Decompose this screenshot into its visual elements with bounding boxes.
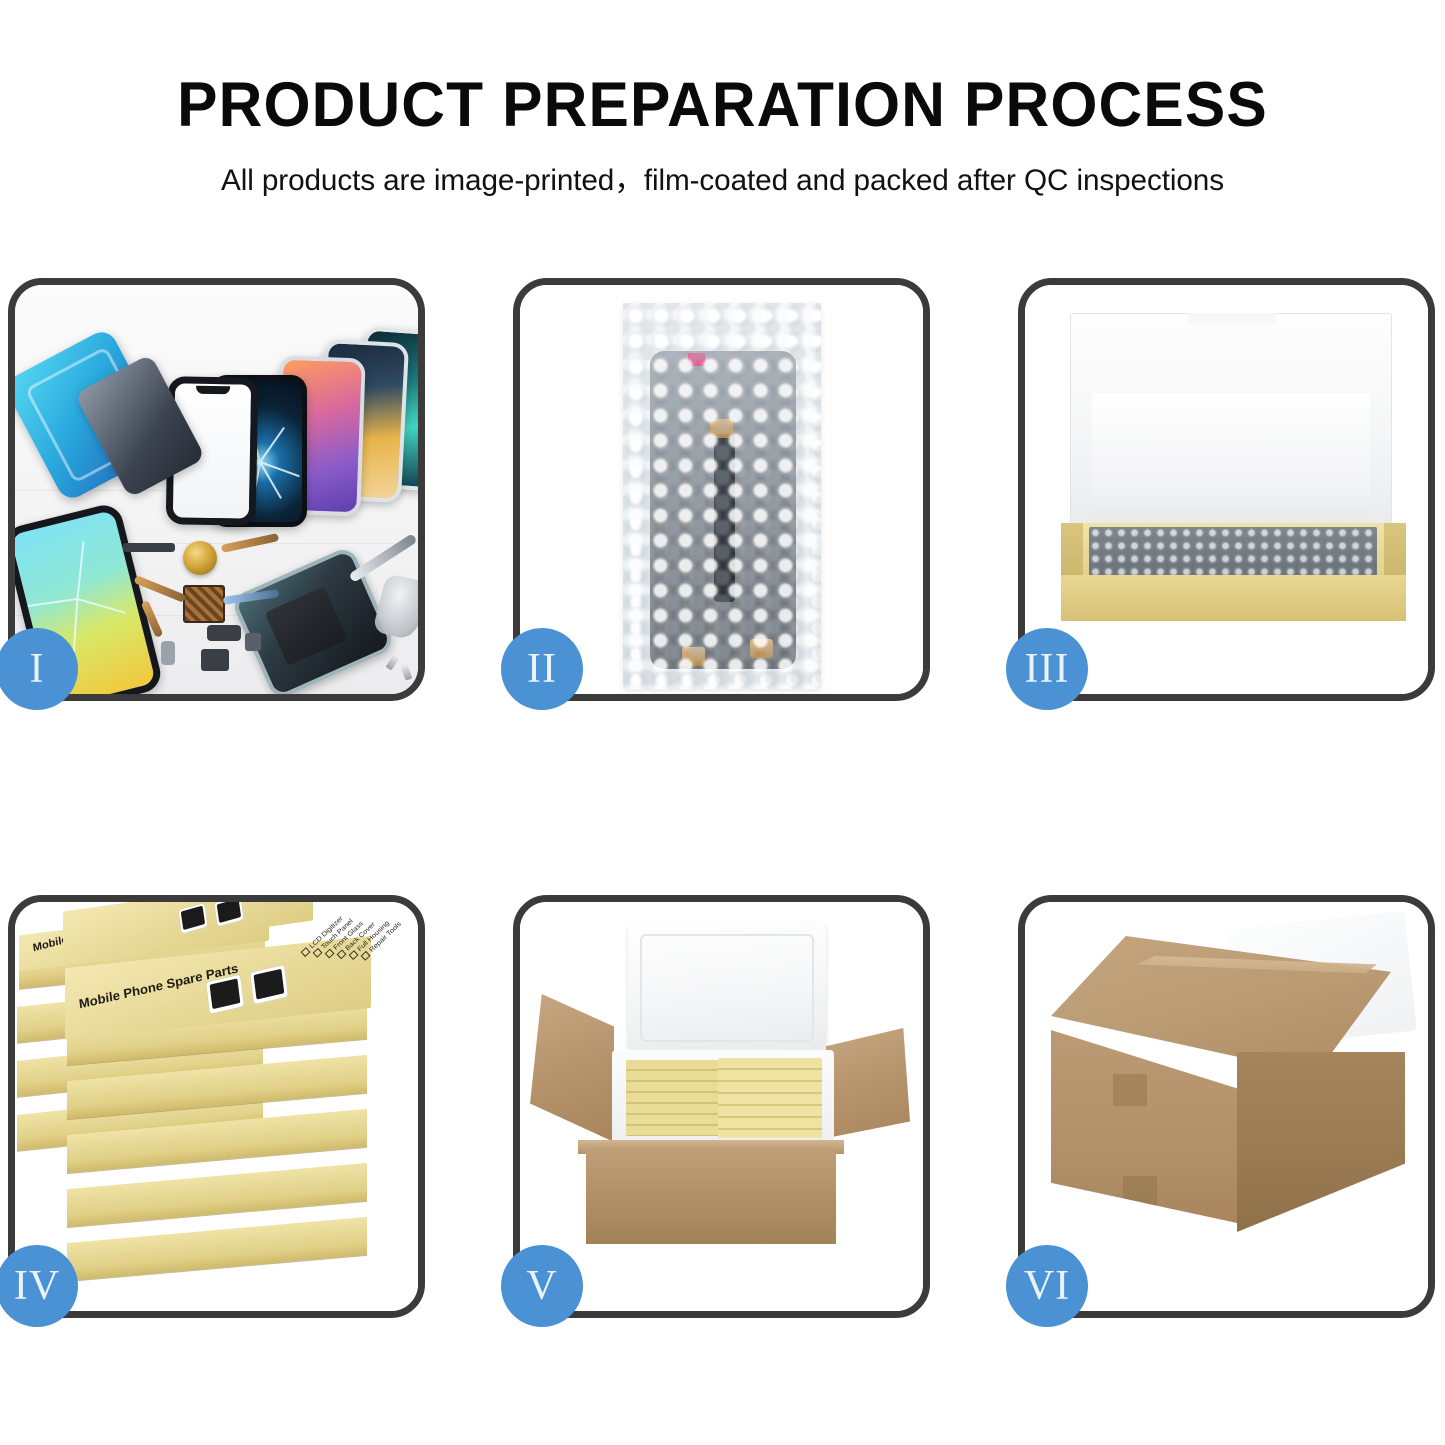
box-lid-open xyxy=(1070,313,1392,535)
bubble-wrap-bag xyxy=(623,303,821,689)
box-screen-thumbnail xyxy=(177,902,208,935)
taptic-engine-part xyxy=(201,649,229,671)
step-badge-6: VI xyxy=(1006,1245,1088,1327)
retail-box-front-2 xyxy=(67,1163,367,1227)
step-2-image xyxy=(520,285,923,694)
ic-chip-icon xyxy=(183,585,225,623)
cleaning-brush-icon xyxy=(372,573,418,642)
process-step-panel-4: Mobile Phone Spare Parts LCD Digitizer T… xyxy=(8,895,425,1318)
sealed-carton-scene xyxy=(1025,902,1428,1311)
tape-patch-upper xyxy=(1113,1074,1147,1106)
process-step-panel-2: II xyxy=(513,278,930,701)
screen-flex-cable xyxy=(714,434,735,602)
open-flat-box-scene xyxy=(1025,285,1428,694)
speaker-coil-icon xyxy=(183,541,217,575)
foam-cooler-lid xyxy=(628,922,826,1054)
connector-gold-top xyxy=(710,419,733,438)
box-screen-thumbnail xyxy=(249,964,289,1005)
earpiece-mesh-part xyxy=(123,543,175,552)
step-6-image xyxy=(1025,902,1428,1311)
foam-sheet-white xyxy=(1092,393,1370,525)
foam-cooler-tray xyxy=(612,1050,834,1148)
qc-sticker-pink xyxy=(688,353,705,366)
step-4-image: Mobile Phone Spare Parts LCD Digitizer T… xyxy=(15,902,418,1311)
retail-box-front-1 xyxy=(67,1217,367,1281)
screwdriver-icon xyxy=(348,533,417,583)
header: PRODUCT PREPARATION PROCESS All products… xyxy=(0,0,1445,250)
parts-assortment-scene xyxy=(15,285,418,694)
step-3-image xyxy=(1025,285,1428,694)
product-preparation-infographic: PRODUCT PREPARATION PROCESS All products… xyxy=(0,0,1445,1445)
bubble-wrapped-screen-scene xyxy=(520,285,923,694)
step-badge-2: II xyxy=(501,628,583,710)
connector-gold-left xyxy=(682,647,705,666)
connector-gold-right xyxy=(750,639,773,658)
page-subtitle: All products are image-printed，film-coat… xyxy=(7,155,1438,199)
process-step-panel-6: VI xyxy=(1018,895,1435,1318)
sim-tray-part xyxy=(161,641,175,665)
tape-patch-lower xyxy=(1123,1176,1157,1206)
carton-side-face xyxy=(1237,1052,1405,1232)
step-badge-1: I xyxy=(0,628,78,710)
screw-icon xyxy=(385,654,399,670)
box-screen-thumbnail xyxy=(205,974,245,1015)
retail-boxes-in-foam-right xyxy=(718,1058,822,1138)
grey-bubble-cushion xyxy=(1089,527,1377,579)
kraft-box-tray xyxy=(1061,523,1406,621)
step-1-image xyxy=(15,285,418,694)
vibrator-part xyxy=(245,633,261,651)
step-badge-3: III xyxy=(1006,628,1088,710)
screw-icon xyxy=(401,664,413,680)
tray-front-face xyxy=(1061,575,1406,621)
camera-module-part xyxy=(207,625,241,641)
carton-flap-right xyxy=(826,1028,910,1142)
step-5-image xyxy=(520,902,923,1311)
stacked-gold-boxes-scene: Mobile Phone Spare Parts LCD Digitizer T… xyxy=(15,902,418,1311)
page-title: PRODUCT PREPARATION PROCESS xyxy=(29,72,1416,138)
process-step-panel-5: V xyxy=(513,895,930,1318)
step-badge-5: V xyxy=(501,1245,583,1327)
lid-tab xyxy=(1188,313,1276,325)
carton-with-foam-scene xyxy=(520,902,923,1311)
step-badge-4: IV xyxy=(0,1245,78,1327)
process-step-panel-3: III xyxy=(1018,278,1435,701)
box-screen-thumbnail xyxy=(213,902,244,928)
process-steps-grid: I II xyxy=(8,278,1437,1318)
carton-flap-left xyxy=(530,994,614,1142)
carton-front-face xyxy=(1051,1030,1251,1226)
process-step-panel-1: I xyxy=(8,278,425,701)
carton-body xyxy=(586,1148,836,1244)
